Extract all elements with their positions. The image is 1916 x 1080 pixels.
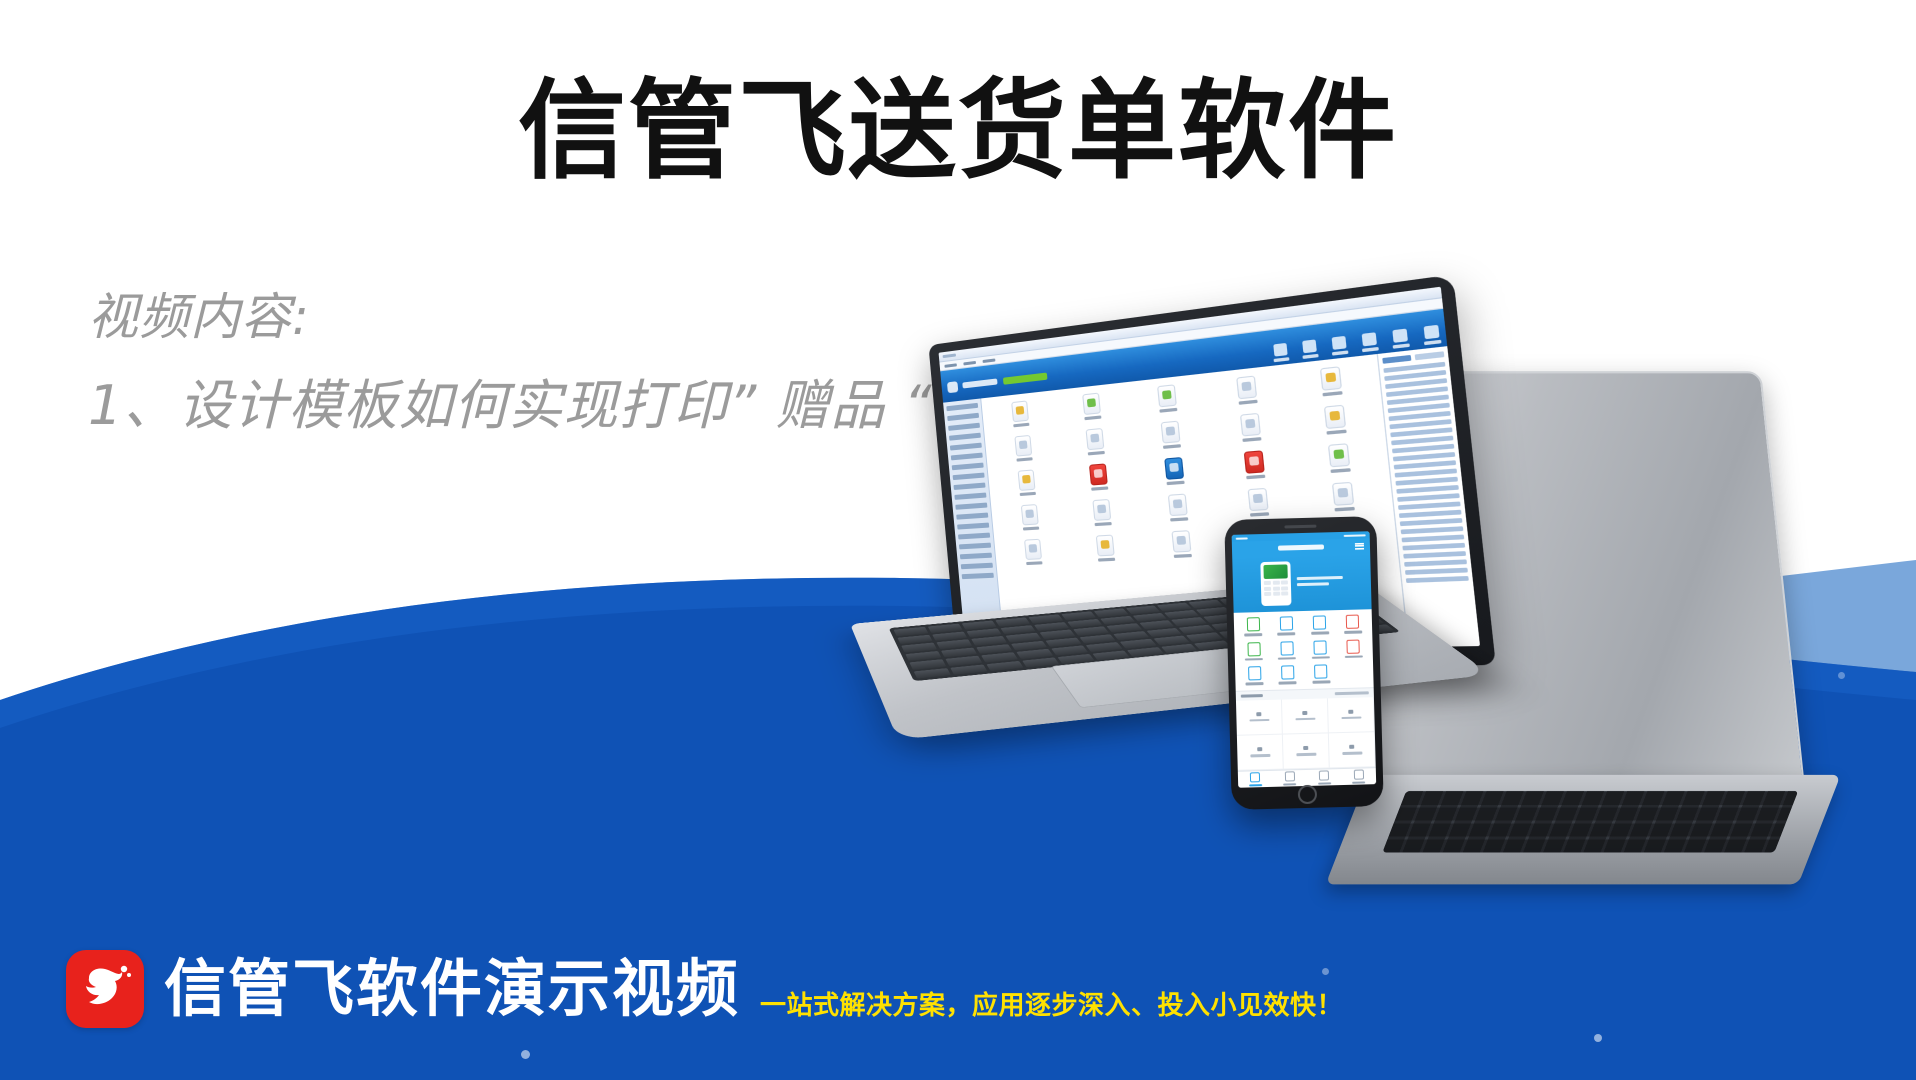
footer-branding: 信管飞软件演示视频 一站式解决方案，应用逐步深入、投入小见效快！ bbox=[66, 950, 1343, 1028]
sidebar-item[interactable] bbox=[951, 453, 983, 461]
phone-status-icons bbox=[1344, 534, 1366, 537]
sidebar-item[interactable] bbox=[954, 493, 986, 500]
mobile-module-label bbox=[1278, 632, 1296, 635]
module-label bbox=[1023, 526, 1039, 530]
footer-brand-name: 信管飞软件演示视频 bbox=[164, 958, 740, 1020]
stat-cell[interactable] bbox=[1329, 732, 1376, 768]
toolbar-button[interactable] bbox=[1272, 343, 1290, 366]
tab-inactive[interactable] bbox=[1415, 351, 1445, 360]
module-glyph-icon bbox=[1248, 488, 1269, 511]
toolbar-button[interactable] bbox=[1422, 325, 1442, 349]
module-label bbox=[1334, 507, 1354, 512]
stat-value bbox=[1349, 745, 1354, 749]
module-label bbox=[1322, 391, 1342, 396]
devices-illustration bbox=[830, 340, 1916, 940]
phone-screen bbox=[1232, 531, 1377, 788]
menu-item[interactable] bbox=[944, 363, 957, 367]
sidebar-item[interactable] bbox=[961, 563, 993, 570]
user-icon bbox=[1354, 769, 1364, 779]
module-label bbox=[1250, 512, 1269, 516]
footer-tagline: 一站式解决方案，应用逐步深入、投入小见效快！ bbox=[760, 985, 1343, 1028]
tab-home[interactable] bbox=[1238, 771, 1273, 788]
module-label bbox=[1026, 561, 1042, 565]
toolbar-label bbox=[1302, 354, 1318, 359]
module-glyph-icon bbox=[1240, 413, 1261, 437]
toolbar-button[interactable] bbox=[1391, 328, 1410, 352]
tab-active[interactable] bbox=[1382, 355, 1411, 364]
sidebar-item[interactable] bbox=[946, 403, 978, 411]
module-label bbox=[1020, 492, 1036, 496]
stat-label bbox=[1342, 752, 1362, 755]
toolbar-button[interactable] bbox=[1360, 332, 1379, 356]
module-glyph-icon bbox=[1089, 463, 1108, 485]
toolbar-button[interactable] bbox=[1301, 339, 1319, 362]
module-label bbox=[1098, 558, 1115, 562]
document-icon bbox=[1281, 665, 1294, 679]
mobile-module-label bbox=[1246, 682, 1264, 685]
module-label bbox=[1163, 444, 1181, 449]
module-glyph-icon bbox=[1164, 457, 1184, 480]
module-label bbox=[1242, 437, 1261, 442]
stat-value bbox=[1348, 710, 1353, 714]
home-icon bbox=[1250, 772, 1260, 782]
module-glyph-icon bbox=[1014, 435, 1032, 457]
module-glyph-icon bbox=[1236, 375, 1257, 399]
sidebar-item[interactable] bbox=[953, 473, 985, 481]
mobile-app-banner bbox=[1232, 553, 1371, 613]
right-panel-row[interactable] bbox=[1400, 518, 1463, 526]
module-icon[interactable] bbox=[997, 502, 1064, 532]
toolbar-icon bbox=[1302, 339, 1317, 353]
module-glyph-icon bbox=[1324, 405, 1346, 429]
module-label bbox=[1167, 481, 1185, 486]
module-glyph-icon bbox=[1096, 535, 1115, 557]
sidebar-item[interactable] bbox=[953, 483, 985, 490]
document-icon bbox=[1248, 666, 1261, 680]
module-glyph-icon bbox=[1328, 443, 1350, 467]
section-title bbox=[1241, 694, 1263, 698]
module-icon[interactable] bbox=[1145, 529, 1219, 560]
stat-label bbox=[1249, 719, 1269, 722]
module-glyph-icon bbox=[1161, 421, 1181, 444]
toolbar-icon bbox=[1273, 343, 1287, 357]
module-icon[interactable] bbox=[1220, 486, 1298, 519]
chart-icon bbox=[1319, 770, 1329, 780]
document-icon bbox=[1314, 640, 1327, 654]
module-glyph-icon bbox=[1011, 400, 1029, 422]
sidebar-item[interactable] bbox=[956, 513, 988, 520]
stat-label bbox=[1296, 753, 1316, 756]
module-icon[interactable] bbox=[1141, 492, 1215, 524]
mobile-module-item[interactable] bbox=[1271, 616, 1302, 635]
module-icon[interactable] bbox=[1209, 372, 1287, 407]
right-panel-row[interactable] bbox=[1395, 468, 1458, 477]
module-icon[interactable] bbox=[1298, 441, 1381, 476]
module-icon[interactable] bbox=[1131, 381, 1205, 415]
module-glyph-icon bbox=[1320, 366, 1342, 391]
brand-logo bbox=[66, 950, 144, 1028]
mobile-module-label bbox=[1312, 680, 1330, 683]
tab-label bbox=[1283, 783, 1296, 786]
module-glyph-icon bbox=[1244, 450, 1265, 474]
app-logo-icon bbox=[947, 381, 958, 393]
banner-phone-keypad bbox=[1264, 580, 1288, 596]
phone-speaker bbox=[1284, 525, 1316, 529]
right-panel-row[interactable] bbox=[1397, 493, 1460, 502]
stat-value bbox=[1302, 711, 1307, 715]
module-glyph-icon bbox=[1171, 530, 1191, 552]
dove-flame-logo-icon bbox=[66, 950, 144, 1028]
mobile-module-item[interactable] bbox=[1304, 615, 1335, 634]
mobile-module-label bbox=[1279, 681, 1297, 684]
mobile-module-label bbox=[1311, 631, 1329, 634]
toolbar-icon bbox=[1424, 325, 1440, 339]
module-icon[interactable] bbox=[1291, 363, 1373, 399]
right-panel-row[interactable] bbox=[1402, 543, 1465, 551]
app-window-title bbox=[943, 353, 956, 358]
toolbar-icon bbox=[1392, 329, 1408, 343]
toolbar-label bbox=[1332, 350, 1349, 355]
tab-reports[interactable] bbox=[1307, 769, 1342, 786]
module-label bbox=[1326, 430, 1346, 435]
right-panel-row[interactable] bbox=[1405, 568, 1468, 575]
module-icon[interactable] bbox=[1000, 537, 1067, 566]
sidebar-item[interactable] bbox=[952, 463, 984, 471]
document-icon bbox=[1246, 617, 1259, 631]
right-panel-row[interactable] bbox=[1401, 526, 1464, 534]
toolbar-label bbox=[1362, 347, 1379, 352]
tab-label bbox=[1352, 781, 1365, 784]
banner-phone-screen bbox=[1263, 564, 1287, 579]
stat-label bbox=[1250, 754, 1270, 757]
grid-icon bbox=[1314, 664, 1327, 678]
decorative-dot bbox=[521, 1050, 530, 1059]
right-panel-row[interactable] bbox=[1406, 576, 1469, 583]
module-icon[interactable] bbox=[988, 398, 1054, 430]
decorative-dot bbox=[1594, 1034, 1602, 1042]
phone-home-button[interactable] bbox=[1298, 785, 1317, 804]
module-icon[interactable] bbox=[1134, 418, 1208, 451]
stat-cell[interactable] bbox=[1237, 734, 1284, 770]
mobile-module-label bbox=[1278, 657, 1296, 660]
sidebar-item[interactable] bbox=[950, 443, 982, 451]
tab-label bbox=[1249, 784, 1262, 787]
right-panel-row[interactable] bbox=[1404, 559, 1467, 566]
mobile-module-item[interactable] bbox=[1338, 614, 1369, 633]
smartphone bbox=[1224, 516, 1384, 810]
module-label bbox=[1095, 522, 1112, 526]
module-label bbox=[1159, 408, 1177, 413]
mobile-module-item[interactable] bbox=[1238, 641, 1269, 660]
sidebar-item[interactable] bbox=[947, 413, 979, 421]
module-label bbox=[1170, 517, 1188, 521]
stat-cell[interactable] bbox=[1328, 697, 1375, 733]
sidebar-item[interactable] bbox=[949, 433, 981, 441]
stat-cell[interactable] bbox=[1282, 698, 1329, 734]
banner-phone-illustration bbox=[1260, 561, 1291, 606]
mobile-module-item[interactable] bbox=[1239, 666, 1270, 685]
module-glyph-icon bbox=[1082, 393, 1101, 416]
sidebar-item[interactable] bbox=[957, 523, 989, 530]
mobile-module-item[interactable] bbox=[1272, 665, 1303, 684]
module-glyph-icon bbox=[1332, 482, 1354, 506]
mobile-module-item[interactable] bbox=[1306, 664, 1337, 683]
stat-value bbox=[1303, 746, 1308, 750]
module-glyph-icon bbox=[1018, 469, 1036, 491]
stat-label bbox=[1341, 716, 1361, 719]
module-icon[interactable] bbox=[1061, 425, 1131, 457]
mobile-module-label bbox=[1344, 630, 1362, 633]
module-label bbox=[1016, 457, 1032, 461]
app-brand-text bbox=[962, 378, 997, 388]
right-panel-row[interactable] bbox=[1403, 551, 1466, 558]
module-label bbox=[1084, 415, 1101, 420]
module-label bbox=[1239, 400, 1258, 405]
document-icon bbox=[1346, 615, 1359, 629]
mobile-module-item[interactable] bbox=[1338, 639, 1369, 658]
module-icon[interactable] bbox=[1071, 533, 1141, 563]
sidebar-item[interactable] bbox=[960, 553, 992, 560]
stat-value bbox=[1256, 712, 1261, 716]
module-label bbox=[1091, 486, 1108, 490]
mobile-module-label bbox=[1345, 655, 1363, 658]
mobile-module-label bbox=[1244, 633, 1262, 636]
module-glyph-icon bbox=[1086, 428, 1105, 450]
stat-value bbox=[1257, 747, 1262, 751]
sidebar-item[interactable] bbox=[962, 573, 994, 579]
tab-label bbox=[1318, 782, 1331, 785]
document-icon bbox=[1280, 616, 1293, 630]
app-brand-subtext bbox=[1003, 372, 1048, 384]
slide-canvas: 信管飞送货单软件 视频内容: 1、设计模板如何实现打印” 赠品 “字样? bbox=[0, 0, 1916, 1080]
module-glyph-icon bbox=[1168, 494, 1188, 517]
document-icon bbox=[1247, 642, 1260, 656]
mobile-module-grid bbox=[1234, 609, 1374, 691]
module-icon[interactable] bbox=[1067, 497, 1137, 528]
sidebar-item[interactable] bbox=[955, 503, 987, 510]
module-label bbox=[1174, 554, 1192, 558]
right-panel-row[interactable] bbox=[1394, 460, 1456, 469]
module-icon[interactable] bbox=[991, 433, 1057, 464]
module-icon[interactable] bbox=[1057, 390, 1127, 423]
mobile-module-label bbox=[1245, 658, 1263, 661]
right-panel-row[interactable] bbox=[1401, 535, 1464, 543]
right-panel-row[interactable] bbox=[1395, 477, 1458, 486]
module-icon-highlighted[interactable] bbox=[1138, 455, 1212, 487]
tab-documents[interactable] bbox=[1272, 770, 1307, 787]
banner-text bbox=[1297, 576, 1343, 589]
mobile-module-item[interactable] bbox=[1238, 617, 1269, 636]
sidebar-item[interactable] bbox=[959, 543, 991, 550]
right-panel-row[interactable] bbox=[1399, 510, 1462, 518]
right-panel-row[interactable] bbox=[1398, 501, 1461, 509]
toolbar-label bbox=[1393, 343, 1410, 348]
tab-profile[interactable] bbox=[1341, 768, 1376, 785]
section-filters[interactable] bbox=[1335, 691, 1369, 695]
hamburger-menu-icon[interactable] bbox=[1355, 542, 1364, 549]
module-icon-highlighted[interactable] bbox=[1064, 461, 1134, 492]
sidebar-item[interactable] bbox=[958, 533, 990, 540]
menu-item[interactable] bbox=[982, 358, 995, 363]
mobile-stats-grid bbox=[1236, 697, 1376, 771]
stat-cell[interactable] bbox=[1283, 733, 1330, 769]
toolbar-label bbox=[1274, 357, 1290, 362]
right-panel-row[interactable] bbox=[1396, 485, 1459, 494]
mobile-module-label bbox=[1311, 656, 1329, 659]
document-icon bbox=[1280, 641, 1293, 655]
module-glyph-icon bbox=[1157, 384, 1177, 407]
stat-label bbox=[1295, 718, 1315, 721]
stat-cell[interactable] bbox=[1236, 699, 1283, 735]
toolbar-icon bbox=[1332, 336, 1347, 350]
module-label bbox=[1088, 451, 1105, 456]
mobile-module-item[interactable] bbox=[1272, 641, 1303, 660]
toolbar-icon bbox=[1362, 332, 1377, 346]
mobile-app-title bbox=[1278, 544, 1324, 550]
toolbar-button[interactable] bbox=[1330, 336, 1348, 359]
module-label bbox=[1246, 475, 1265, 480]
page-title: 信管飞送货单软件 bbox=[0, 70, 1916, 194]
document-icon bbox=[1347, 639, 1360, 653]
module-glyph-icon bbox=[1024, 539, 1042, 560]
module-label bbox=[1330, 468, 1350, 473]
module-icon[interactable] bbox=[994, 467, 1060, 497]
phone-carrier-text bbox=[1236, 537, 1248, 539]
module-icon[interactable] bbox=[1302, 480, 1385, 514]
sidebar-item[interactable] bbox=[948, 423, 980, 431]
document-icon bbox=[1313, 615, 1326, 629]
mobile-module-item[interactable] bbox=[1305, 640, 1336, 659]
module-glyph-icon bbox=[1021, 504, 1039, 525]
module-icon[interactable] bbox=[1295, 402, 1378, 438]
module-label bbox=[1013, 423, 1029, 428]
menu-item[interactable] bbox=[963, 360, 976, 365]
module-icon[interactable] bbox=[1212, 410, 1290, 444]
list-icon bbox=[1285, 771, 1295, 781]
toolbar-label bbox=[1424, 340, 1442, 345]
module-glyph-icon bbox=[1092, 499, 1111, 521]
module-icon-highlighted[interactable] bbox=[1216, 448, 1294, 481]
